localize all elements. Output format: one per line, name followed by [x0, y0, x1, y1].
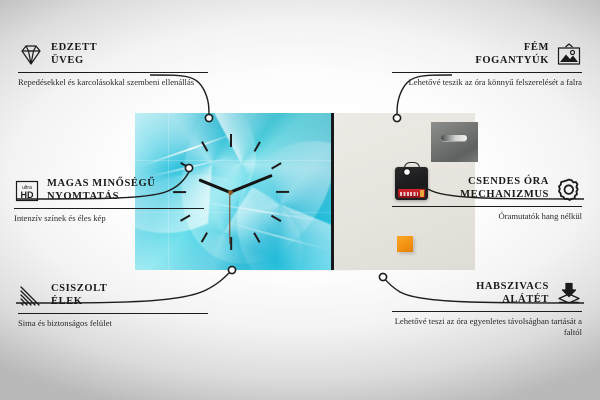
callout-polished-edges[interactable]: CSISZOLT ÉLEK Sima és biztonságos felüle… [18, 283, 208, 329]
callout-header: FÉM FOGANTYÚK [392, 42, 582, 68]
callout-description: Sima és biztonságos felület [18, 318, 208, 330]
infographic-stage: EDZETT ÜVEG Repedésekkel és karcolásokka… [0, 0, 600, 400]
hour-marker [201, 232, 208, 242]
hour-marker [254, 141, 261, 151]
mechanism-hanging-loop [404, 162, 420, 171]
callout-description: Lehetővé teszik az óra könnyű felszerelé… [392, 77, 582, 89]
metal-hanger-plate [431, 122, 478, 162]
callout-header: CSENDES ÓRA MECHANIZMUS [392, 176, 582, 202]
callout-header: HABSZIVACS ALÁTÉT [392, 281, 582, 307]
hour-marker [230, 237, 232, 250]
hour-marker [254, 232, 261, 242]
callout-rule [392, 206, 582, 207]
diamond-icon [18, 43, 44, 67]
callout-title: HABSZIVACS ALÁTÉT [476, 281, 549, 307]
clock-center-pin [228, 190, 233, 195]
callout-description: Óramutatók hang nélkül [392, 211, 582, 223]
hanger-slot [441, 135, 467, 141]
callout-rule [18, 72, 208, 73]
callout-description: Repedésekkel és karcolásokkal szembeni e… [18, 77, 208, 89]
minute-hand [230, 174, 273, 193]
foam-spacer-pad [397, 236, 413, 252]
hour-marker [201, 141, 208, 151]
callout-title: EDZETT ÜVEG [51, 42, 97, 68]
hour-marker [180, 162, 190, 169]
callout-title: MAGAS MINŐSÉGŰ NYOMTATÁS [47, 178, 155, 204]
hour-marker [276, 191, 289, 193]
hour-marker [271, 162, 281, 169]
callout-description: Lehetővé teszi az óra egyenletes távolsá… [392, 316, 582, 339]
callout-rule [392, 72, 582, 73]
callout-title: FÉM FOGANTYÚK [475, 42, 549, 68]
callout-rule [14, 208, 204, 209]
callout-rule [18, 313, 208, 314]
callout-rule [392, 311, 582, 312]
callout-high-quality-print[interactable]: ultra HD MAGAS MINŐSÉGŰ NYOMTATÁS Intenz… [14, 178, 204, 224]
callout-description: Intenzív színek és éles kép [14, 213, 204, 225]
callout-header: CSISZOLT ÉLEK [18, 283, 208, 309]
picture-hanger-icon [556, 43, 582, 67]
gear-icon [556, 177, 582, 201]
svg-text:HD: HD [21, 190, 34, 200]
callout-metal-handles[interactable]: FÉM FOGANTYÚK Lehetővé teszik az óra kön… [392, 42, 582, 88]
callout-foam-pad[interactable]: HABSZIVACS ALÁTÉT Lehetővé teszi az óra … [392, 281, 582, 339]
ultra-hd-badge-icon: ultra HD [14, 179, 40, 203]
callout-title: CSENDES ÓRA MECHANIZMUS [460, 176, 549, 202]
hour-marker [230, 134, 232, 147]
callout-tempered-glass[interactable]: EDZETT ÜVEG Repedésekkel és karcolásokka… [18, 42, 208, 88]
callout-silent-mechanism[interactable]: CSENDES ÓRA MECHANIZMUS Óramutatók hang … [392, 176, 582, 222]
down-arrow-pad-icon [556, 282, 582, 306]
callout-title: CSISZOLT ÉLEK [51, 283, 107, 309]
callout-header: EDZETT ÜVEG [18, 42, 208, 68]
callout-header: ultra HD MAGAS MINŐSÉGŰ NYOMTATÁS [14, 178, 204, 204]
hour-marker [271, 215, 281, 222]
beveled-edge-icon [18, 284, 44, 308]
